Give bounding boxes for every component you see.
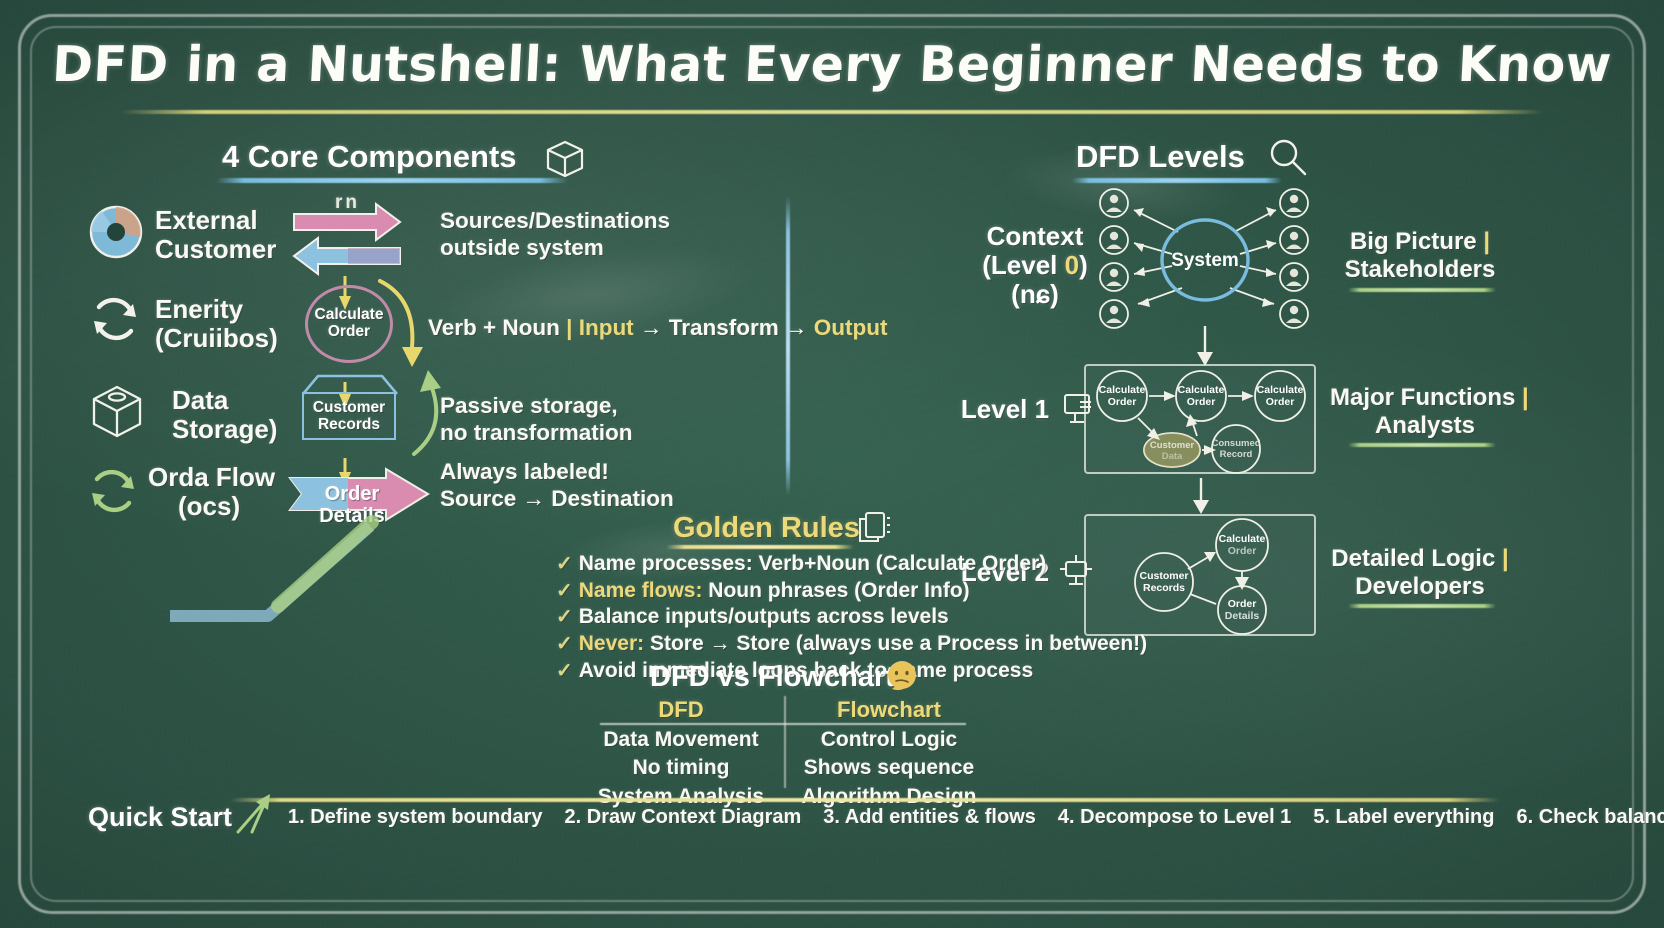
- golden-rule-item: ✓Name flows: Noun phrases (Order Info): [556, 578, 1147, 605]
- right-section-underline: [1072, 178, 1282, 183]
- component-line2: Storage): [172, 414, 277, 444]
- comparison-col1-header: DFD: [586, 697, 776, 723]
- context-center-label: System: [1171, 250, 1239, 271]
- data-store-cube-icon: [86, 382, 148, 440]
- annotation-data-flow: Always labeled! Source → Destination: [440, 458, 674, 513]
- component-line1: External: [155, 205, 258, 235]
- quick-start-label: Quick Start: [88, 802, 232, 833]
- component-line2: (Cruiibos): [155, 323, 278, 353]
- comparison-cell: Data Movement: [586, 726, 776, 754]
- level-caption-1: Major Functions | Analysts: [1330, 384, 1520, 440]
- diagram-datastore-customer-records: CustomerRecords: [302, 392, 396, 440]
- level-caption-underline: [1348, 288, 1496, 292]
- svg-text:Records: Records: [1143, 582, 1185, 594]
- right-section-heading: DFD Levels: [1076, 139, 1245, 175]
- quick-start-step: 3. Add entities & flows: [823, 806, 1036, 828]
- component-line1: Enerity: [155, 294, 243, 324]
- document-copy-icon: [854, 508, 894, 548]
- comparison-cell: Shows sequence: [794, 754, 984, 782]
- comparison-header-divider: [600, 723, 966, 725]
- component-label-external-customer: External Customer: [155, 206, 276, 264]
- comparison-cell: No timing: [586, 754, 776, 782]
- decorative-ramp: [160, 520, 390, 630]
- entity-circle-icon: [88, 204, 144, 260]
- comparison-column-divider: [784, 696, 786, 788]
- golden-rule-item: ✓Name processes: Verb+Noun (Calculate Or…: [556, 551, 1147, 578]
- quick-start-step: 6. Check balance!: [1516, 806, 1664, 828]
- component-label-process: Enerity (Cruiibos): [155, 295, 278, 353]
- svg-text:Record: Record: [1220, 449, 1253, 460]
- annotation-data-store: Passive storage, no transformation: [440, 392, 633, 447]
- golden-rules-underline: [666, 545, 854, 549]
- left-section-heading: 4 Core Components: [222, 139, 517, 175]
- title-underline: [120, 110, 1544, 114]
- quick-start-step: 1. Define system boundary: [288, 806, 543, 828]
- golden-rule-item: ✓Balance inputs/outputs across levels: [556, 604, 1147, 631]
- level-caption-underline: [1348, 604, 1496, 608]
- level1-node-label: Consumed: [1211, 438, 1260, 449]
- annotation-process: Verb + Noun | Input → Transform → Output: [428, 314, 887, 341]
- context-diagram: System: [1090, 188, 1320, 338]
- level1-node-label: Customer: [1150, 440, 1195, 451]
- thinking-face-emoji: [884, 658, 920, 694]
- level1-to-level2-arrow: [1188, 478, 1214, 516]
- level0-line2: (Level 0): [982, 250, 1088, 280]
- magnifier-icon: [1266, 136, 1310, 180]
- quick-start-step: 5. Label everything: [1313, 806, 1494, 828]
- golden-rule-item: ✓Never: Store → Store (always use a Proc…: [556, 631, 1147, 658]
- level-caption-context: Big Picture | Stakeholders: [1330, 228, 1510, 284]
- flow-refresh-icon: [84, 462, 142, 520]
- quick-start-steps: 1. Define system boundary2. Draw Context…: [288, 806, 1664, 829]
- svg-text:Order: Order: [1108, 396, 1137, 408]
- level-caption-underline: [1348, 443, 1496, 447]
- level0-to-level1-arrow: [1192, 326, 1218, 368]
- level1-diagram: CalculateOrder CalculateOrder CalculateO…: [1084, 364, 1316, 474]
- left-section-underline: [216, 178, 568, 183]
- svg-text:Data: Data: [1162, 451, 1183, 462]
- process-refresh-icon: [86, 290, 144, 348]
- component-line1: Data: [172, 385, 228, 415]
- annotation-external-entity: Sources/Destinations outside system: [440, 207, 670, 262]
- level1-node-label: Calculate: [1178, 384, 1225, 396]
- rocket-arrow-icon: [232, 792, 274, 838]
- quick-start-step: 4. Decompose to Level 1: [1058, 806, 1291, 828]
- comparison-title: DFD vs Flowchart: [650, 661, 895, 694]
- svg-text:Order: Order: [1266, 396, 1295, 408]
- level-caption-2: Detailed Logic | Developers: [1330, 545, 1510, 601]
- level1-node-label: Calculate: [1257, 384, 1304, 396]
- cube-icon: [540, 136, 590, 180]
- level-name-1: Level 1: [940, 395, 1070, 424]
- svg-text:Order: Order: [1228, 545, 1257, 557]
- column-divider: [786, 196, 790, 496]
- datastore-lid: [300, 372, 400, 396]
- svg-text:Order: Order: [1187, 396, 1216, 408]
- component-line1: Orda Flow: [148, 462, 275, 492]
- comparison-cell: Control Logic: [794, 726, 984, 754]
- component-line2: Customer: [155, 234, 276, 264]
- level1-node-label: Calculate: [1099, 384, 1146, 396]
- golden-rules-title: Golden Rules: [673, 512, 860, 545]
- level2-node-label: Calculate: [1219, 533, 1266, 545]
- component-label-data-storage: Data Storage): [172, 386, 277, 444]
- quick-start-step: 2. Draw Context Diagram: [565, 806, 802, 828]
- footer-divider: [230, 798, 1500, 802]
- component-label-data-flow: Orda Flow (ocs): [148, 463, 275, 521]
- component-line2: (ocs): [178, 492, 240, 521]
- svg-text:Details: Details: [1225, 610, 1260, 622]
- level2-node-label: Order: [1228, 598, 1257, 610]
- page-title: DFD in a Nutshell: What Every Beginner N…: [0, 36, 1664, 93]
- comparison-col2-header: Flowchart: [794, 697, 984, 723]
